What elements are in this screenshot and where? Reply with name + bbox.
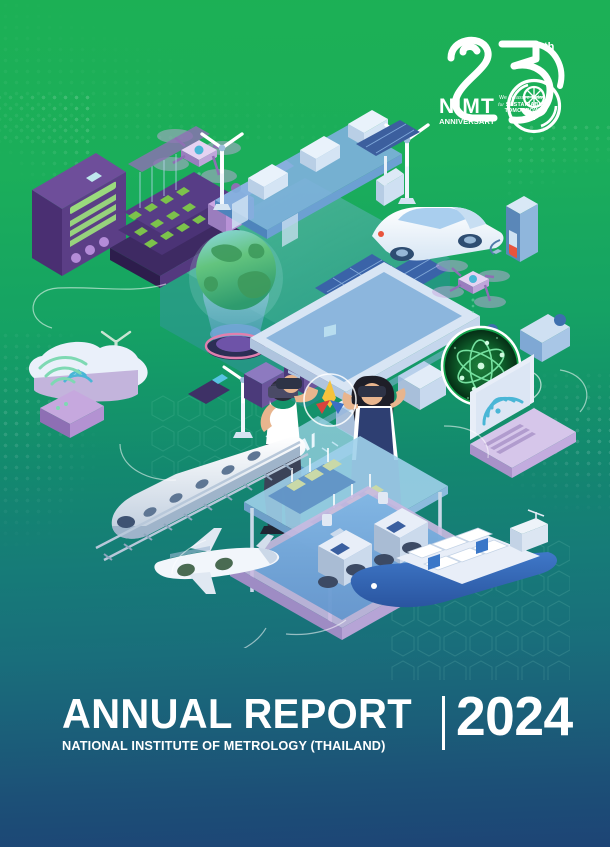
isometric-technology-illustration: AI [0, 108, 610, 648]
tagline-for: for [498, 102, 504, 107]
page-subtitle: NATIONAL INSTITUTE OF METROLOGY (THAILAN… [62, 739, 418, 752]
cloud-computing-icon [29, 342, 148, 402]
ev-charging-station [491, 196, 538, 262]
electric-car [372, 207, 503, 261]
title-divider [442, 696, 445, 750]
anniversary-ordinal: th [544, 41, 555, 53]
tagline-line-2: SUSTAINABLE [506, 102, 546, 108]
report-cover-page: th NIMT ANNIVERSARY We measure today for… [0, 0, 610, 847]
cover-title-block: ANNUAL REPORT NATIONAL INSTITUTE OF METR… [62, 694, 576, 753]
page-title: ANNUAL REPORT [62, 694, 412, 734]
report-year: 2024 [456, 691, 573, 743]
